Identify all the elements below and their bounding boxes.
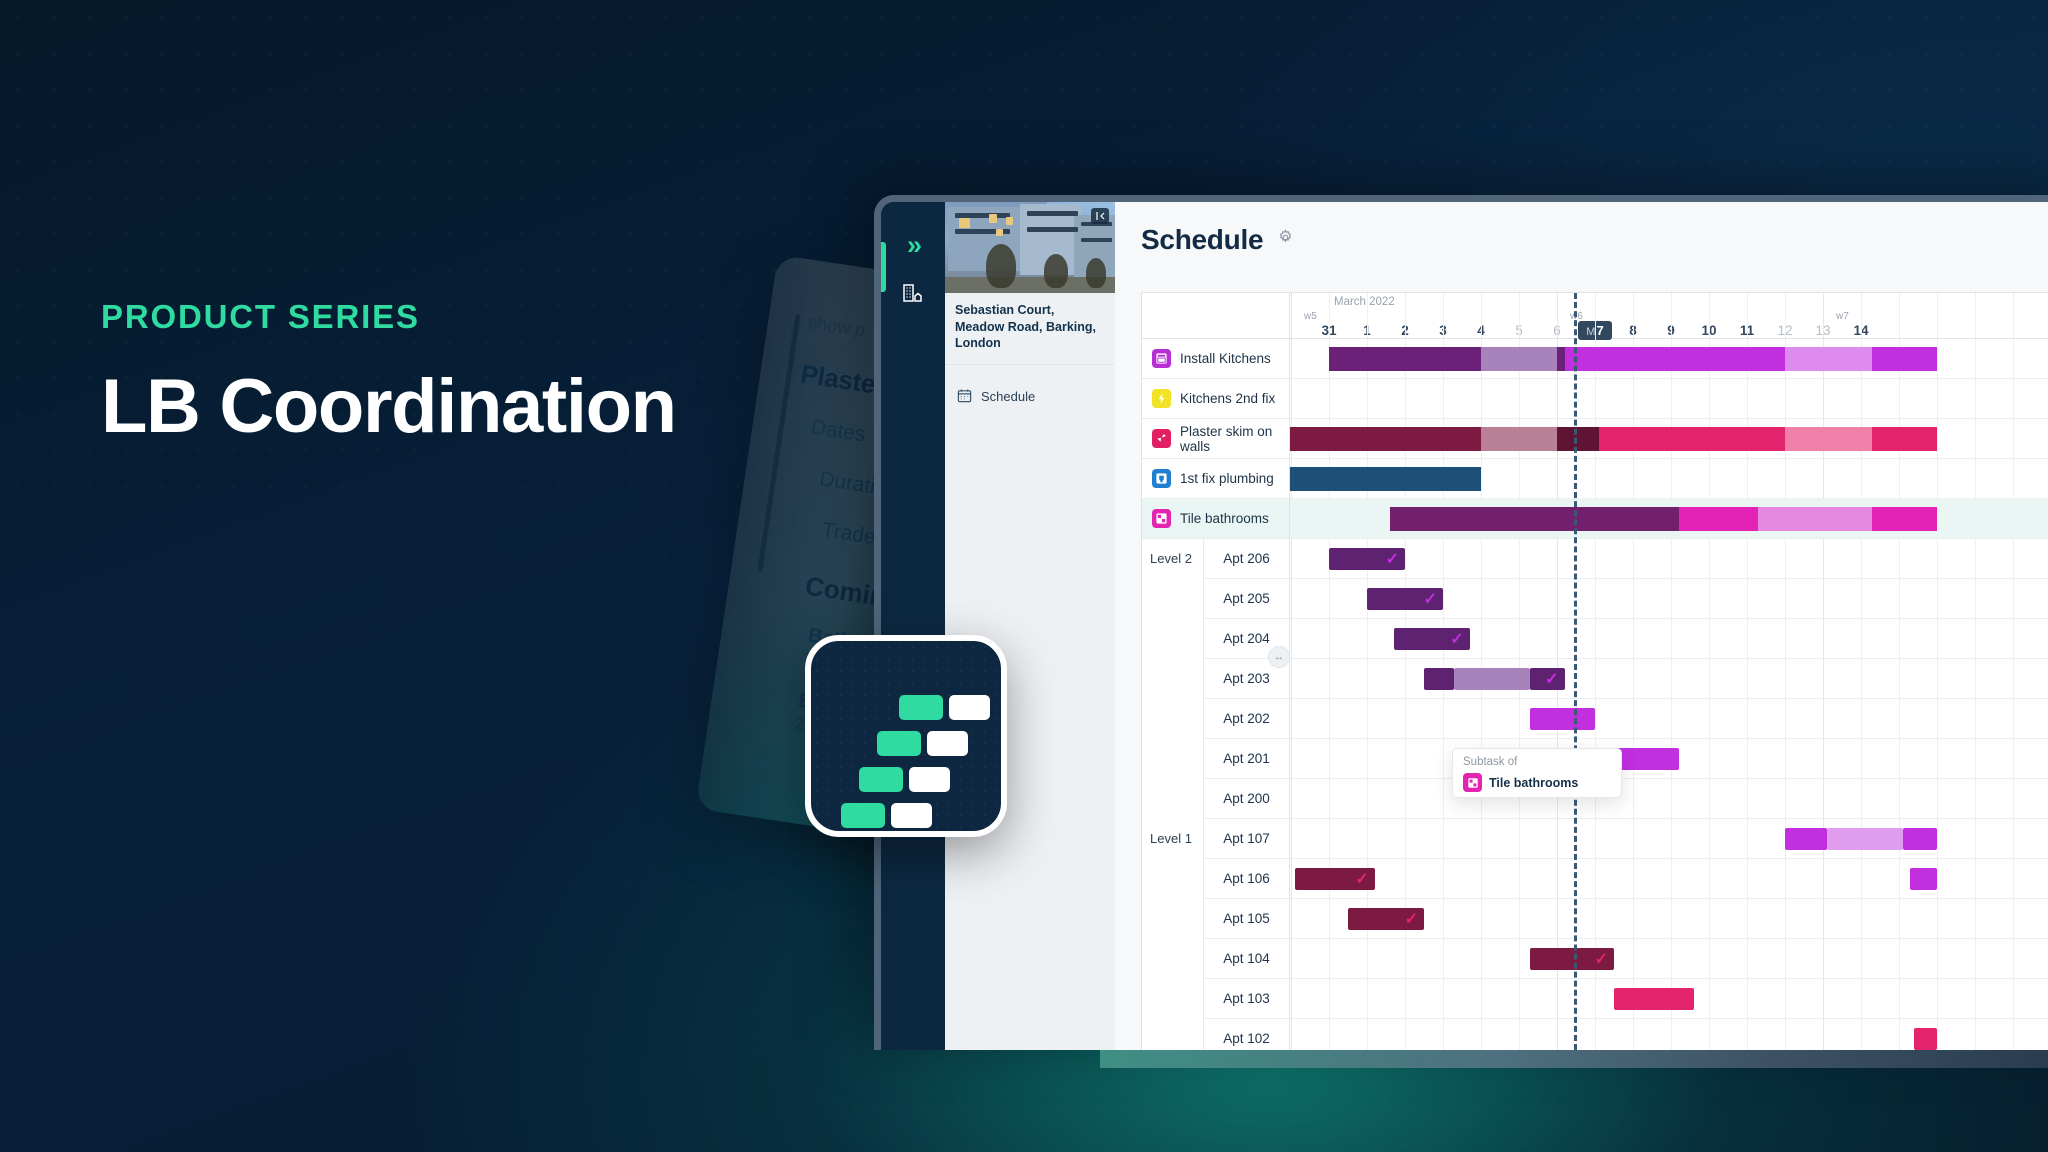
check-icon: ✓ <box>1545 669 1558 689</box>
tile-icon <box>1152 509 1171 528</box>
gantt-apartment-row[interactable]: Apt 104 <box>1204 939 1289 979</box>
gantt-bar-segment[interactable]: ✓ <box>1530 948 1614 970</box>
project-building-photo <box>945 202 1115 293</box>
gantt-apartment-track[interactable]: ✓ <box>1290 859 2048 899</box>
gantt-task-row[interactable]: Tile bathrooms <box>1142 499 1289 539</box>
gantt-timeline[interactable]: March 2022 w5w6w7 31123456M7891011121314… <box>1290 293 2048 1050</box>
gantt-bar-segment[interactable] <box>1329 347 1481 371</box>
gantt-bar-segment[interactable]: ✓ <box>1394 628 1470 650</box>
gantt-apartment-track[interactable]: ✓ <box>1290 899 2048 939</box>
gantt-task-track[interactable] <box>1290 459 2048 499</box>
gear-icon[interactable] <box>1277 229 1294 251</box>
gantt-apartment-track[interactable]: ✓ <box>1290 659 2048 699</box>
gantt-level-group: Level 1Apt 107Apt 106Apt 105Apt 104Apt 1… <box>1142 819 1289 1050</box>
calendar-icon <box>957 388 972 406</box>
gantt-bar-segment[interactable] <box>1827 828 1903 850</box>
gantt-bar-segment[interactable] <box>1599 427 1785 451</box>
tooltip-task-name: Tile bathrooms <box>1489 776 1578 790</box>
sidebar-item-label: Schedule <box>981 389 1035 404</box>
check-icon: ✓ <box>1355 869 1368 889</box>
gantt-bar-segment[interactable] <box>1903 828 1937 850</box>
gantt-task-label: Plaster skim on walls <box>1180 424 1289 454</box>
gantt-level-label: Level 2 <box>1142 539 1204 819</box>
check-icon: ✓ <box>1424 589 1437 609</box>
sidebar-item-schedule[interactable]: Schedule <box>945 379 1115 415</box>
gantt-task-label: 1st fix plumbing <box>1180 471 1274 486</box>
gantt-bar-segment[interactable] <box>1557 347 1565 371</box>
gantt-bar-segment[interactable] <box>1614 988 1694 1010</box>
app-window: » <box>874 195 2048 1050</box>
gantt-task-track[interactable] <box>1290 419 2048 459</box>
gantt-row-labels: Install KitchensKitchens 2nd fixPlaster … <box>1142 293 1290 1050</box>
page-title: LB Coordination <box>101 367 861 446</box>
panel-collapse-icon[interactable] <box>1091 208 1109 224</box>
gantt-apartment-track[interactable]: ✓ <box>1290 939 2048 979</box>
gantt-task-label: Install Kitchens <box>1180 351 1271 366</box>
gantt-bar-segment[interactable]: ✓ <box>1295 868 1375 890</box>
oven-icon <box>1152 349 1171 368</box>
rail-active-marker <box>881 242 886 292</box>
today-marker-line <box>1574 293 1577 1050</box>
gantt-apartment-track[interactable] <box>1290 979 2048 1019</box>
gantt-date-header: March 2022 w5w6w7 31123456M7891011121314 <box>1290 293 2048 339</box>
gantt-apartment-track[interactable]: ✓ <box>1290 539 2048 579</box>
gantt-apartment-track[interactable] <box>1290 1019 2048 1050</box>
gantt-apartment-row[interactable]: Apt 102 <box>1204 1019 1289 1050</box>
resize-horizontal-icon[interactable]: ↔ <box>1268 646 1290 668</box>
gantt-bar-segment[interactable]: ✓ <box>1367 588 1443 610</box>
gantt-bar-segment[interactable] <box>1872 507 1937 531</box>
project-sidebar: Sebastian Court, Meadow Road, Barking, L… <box>945 202 1115 1050</box>
gantt-task-row[interactable]: 1st fix plumbing <box>1142 459 1289 499</box>
gantt-apartment-track[interactable]: ✓ <box>1290 619 2048 659</box>
schedule-title: Schedule <box>1141 224 1263 256</box>
chevron-double-right-icon[interactable]: » <box>881 232 945 259</box>
gantt-apartment-track[interactable] <box>1290 739 2048 779</box>
gantt-apartment-row[interactable]: Apt 205 <box>1204 579 1289 619</box>
gantt-task-row[interactable]: Plaster skim on walls <box>1142 419 1289 459</box>
week-label: w7 <box>1836 311 1849 322</box>
gantt-apartment-track[interactable] <box>1290 819 2048 859</box>
gantt-task-track[interactable] <box>1290 379 2048 419</box>
main-content: Schedule Install KitchensKitchens 2nd fi… <box>1115 202 2048 1050</box>
tooltip-label: Subtask of <box>1463 756 1611 768</box>
check-icon: ✓ <box>1450 629 1463 649</box>
check-icon: ✓ <box>1405 909 1418 929</box>
gantt-bar-segment[interactable] <box>1679 507 1759 531</box>
lightning-icon <box>1152 389 1171 408</box>
gantt-bar-segment[interactable] <box>1530 708 1595 730</box>
gantt-level-label: Level 1 <box>1142 819 1204 1050</box>
gantt-bar-segment[interactable] <box>1290 427 1481 451</box>
gantt-apartment-track[interactable]: ✓ <box>1290 579 2048 619</box>
gantt-bar-segment[interactable] <box>1390 507 1679 531</box>
building-icon[interactable] <box>881 281 945 305</box>
tile-icon <box>1463 773 1482 792</box>
sidebar-nav: Schedule <box>945 365 1115 415</box>
app-nav-rail: » <box>881 202 945 1050</box>
gantt-bar-segment[interactable] <box>1290 467 1481 491</box>
gantt-task-row[interactable]: Kitchens 2nd fix <box>1142 379 1289 419</box>
gantt-month-label: March 2022 <box>1334 296 1395 308</box>
gantt-bar-segment[interactable] <box>1872 347 1937 371</box>
gantt-bar-segment[interactable] <box>1914 1028 1937 1050</box>
gantt-chart: Install KitchensKitchens 2nd fixPlaster … <box>1141 292 2048 1050</box>
gantt-bar-segment[interactable] <box>1785 347 1872 371</box>
gantt-task-track[interactable] <box>1290 339 2048 379</box>
subtask-tooltip: Subtask of Tile bathrooms <box>1452 748 1622 798</box>
gantt-apartment-row[interactable]: Apt 105 <box>1204 899 1289 939</box>
gantt-bar-segment[interactable] <box>1481 347 1557 371</box>
gantt-apartment-row[interactable]: Apt 107 <box>1204 819 1289 859</box>
app-logo <box>805 635 1007 837</box>
gantt-apartment-row[interactable]: Apt 201 <box>1204 739 1289 779</box>
gantt-bar-segment[interactable]: ✓ <box>1530 668 1564 690</box>
toilet-icon <box>1152 469 1171 488</box>
gantt-bar-segment[interactable] <box>1785 828 1827 850</box>
check-icon: ✓ <box>1386 549 1399 569</box>
gantt-apartment-row[interactable]: Apt 103 <box>1204 979 1289 1019</box>
gantt-bar-segment[interactable] <box>1557 427 1599 451</box>
gantt-bar-segment[interactable] <box>1565 347 1785 371</box>
gantt-bar-segment[interactable] <box>1481 427 1557 451</box>
gantt-bar-segment[interactable] <box>1910 868 1937 890</box>
trowel-icon <box>1152 429 1171 448</box>
gantt-bar-segment[interactable] <box>1785 427 1872 451</box>
gantt-task-label: Kitchens 2nd fix <box>1180 391 1275 406</box>
gantt-task-row[interactable]: Install Kitchens <box>1142 339 1289 379</box>
hero-copy: PRODUCT SERIES LB Coordination <box>101 300 861 446</box>
check-icon: ✓ <box>1595 949 1608 969</box>
gantt-bar-segment[interactable]: ✓ <box>1348 908 1424 930</box>
gantt-apartment-row[interactable]: Apt 206 <box>1204 539 1289 579</box>
gantt-apartment-track[interactable] <box>1290 699 2048 739</box>
project-address: Sebastian Court, Meadow Road, Barking, L… <box>945 293 1115 365</box>
gantt-level-group: Level 2Apt 206Apt 205Apt 204Apt 203Apt 2… <box>1142 539 1289 819</box>
gantt-bar-segment[interactable]: ✓ <box>1329 548 1405 570</box>
gantt-bar-segment[interactable] <box>1872 427 1937 451</box>
gantt-apartment-row[interactable]: Apt 200 <box>1204 779 1289 819</box>
gantt-task-label: Tile bathrooms <box>1180 511 1269 526</box>
gantt-apartment-row[interactable]: Apt 106 <box>1204 859 1289 899</box>
gantt-bar-segment[interactable] <box>1424 668 1454 690</box>
week-label: w5 <box>1304 311 1317 322</box>
gantt-apartment-row[interactable]: Apt 202 <box>1204 699 1289 739</box>
gantt-bar-segment[interactable] <box>1758 507 1872 531</box>
window-bottom-edge <box>1100 1050 2048 1068</box>
gantt-bar-segment[interactable] <box>1454 668 1530 690</box>
gantt-task-track[interactable] <box>1290 499 2048 539</box>
hero-eyebrow: PRODUCT SERIES <box>101 300 861 333</box>
gantt-apartment-track[interactable] <box>1290 779 2048 819</box>
